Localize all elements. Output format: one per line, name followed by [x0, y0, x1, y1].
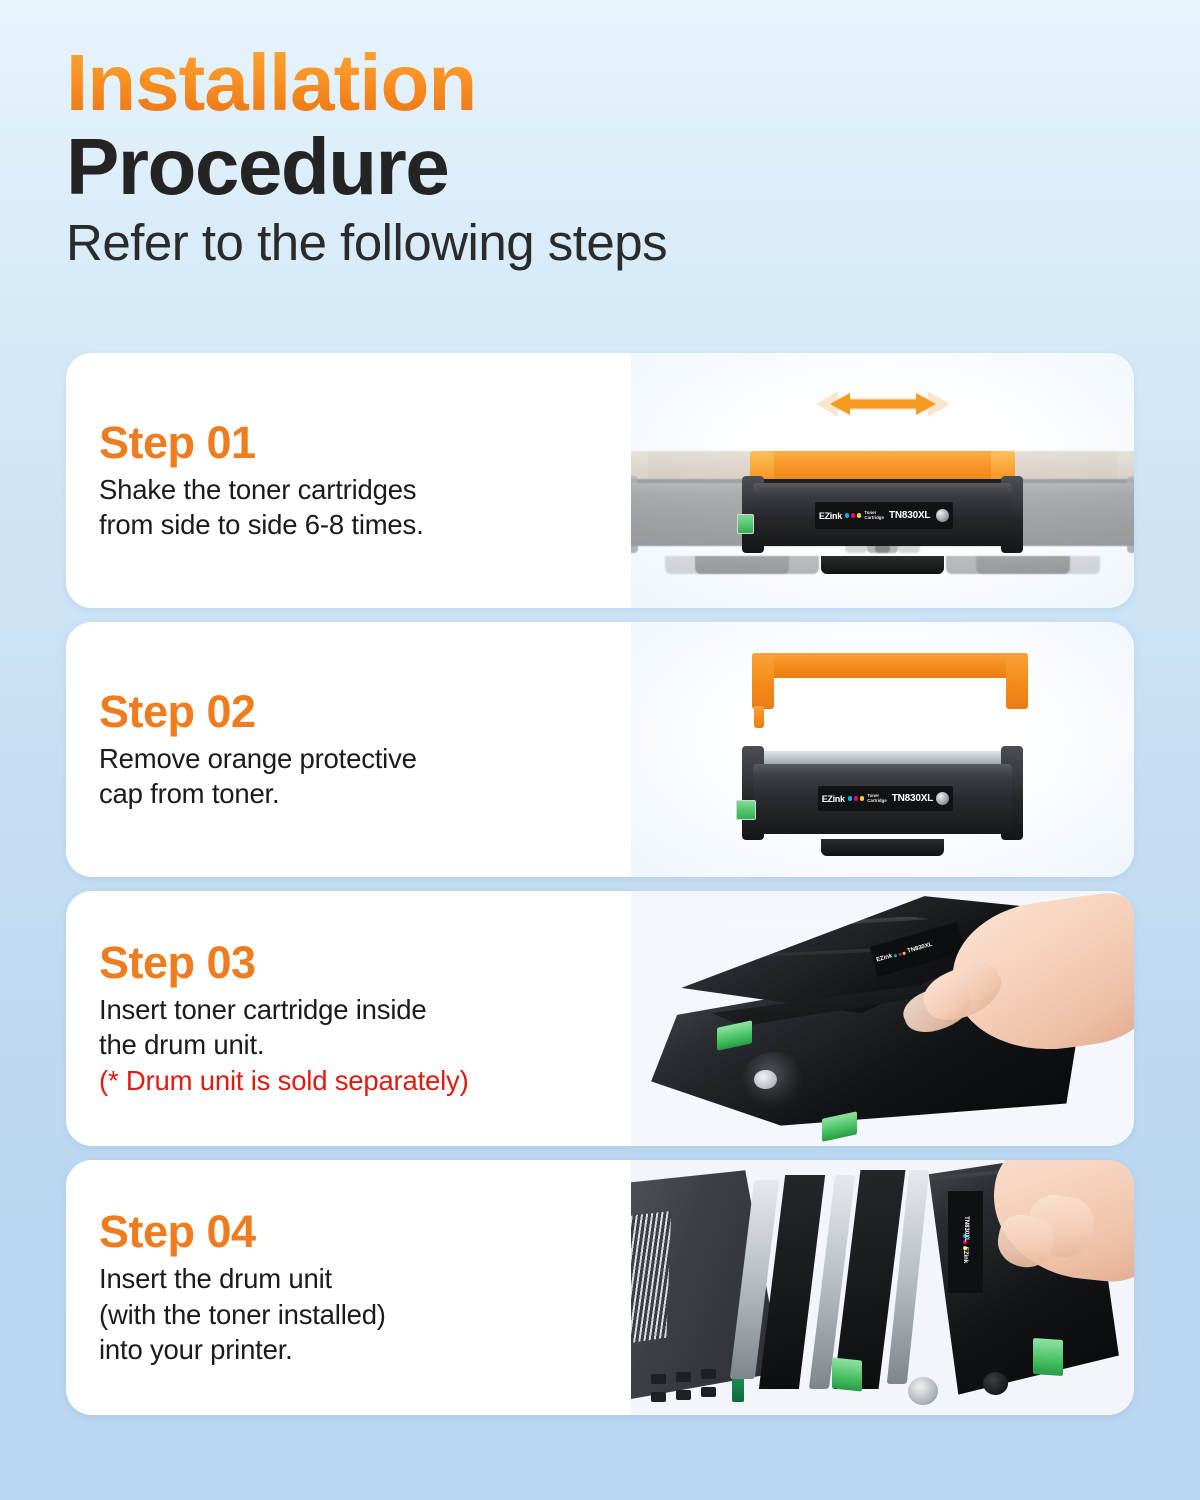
page-title-secondary: Procedure — [66, 126, 1200, 208]
step-card-01: Step 01 Shake the toner cartridges from … — [66, 353, 1134, 608]
brand-text: EZink — [962, 1246, 968, 1262]
cmy-dots-icon — [894, 951, 906, 957]
green-release-tab — [736, 800, 756, 820]
cartridge-label: EZink Toner Cartridge TN830XL — [815, 502, 953, 528]
detached-orange-cap-group — [752, 653, 1029, 709]
registered-seal-icon — [936, 509, 949, 522]
step-card-03: Step 03 Insert toner cartridge inside th… — [66, 891, 1134, 1146]
cartridge-model-text: TN830XL — [892, 793, 933, 804]
toner-cartridge-main: EZink Toner Cartridge TN830XL — [742, 447, 1024, 567]
step-04-description: Insert the drum unit (with the toner ins… — [99, 1261, 631, 1367]
steps-list: Step 01 Shake the toner cartridges from … — [66, 353, 1134, 1429]
cartridge-label: EZink Toner Cartridge TN830XL — [818, 786, 953, 811]
inserted-toner-label: TN830XL EZink — [948, 1191, 983, 1293]
cmy-dots-icon — [848, 796, 865, 801]
step-02-text-block: Step 02 Remove orange protective cap fro… — [66, 622, 631, 877]
step-03-note: (* Drum unit is sold separately) — [99, 1063, 631, 1098]
step-03-text-block: Step 03 Insert toner cartridge inside th… — [66, 891, 631, 1146]
step-03-description: Insert toner cartridge inside the drum u… — [99, 992, 631, 1062]
step-04-illustration: TN830XL EZink — [631, 1160, 1134, 1415]
brand-text: EZink — [822, 794, 845, 804]
cartridge-sub-text: Toner Cartridge — [867, 794, 887, 804]
step-03-label: Step 03 — [99, 939, 631, 986]
cartridge-sub-text: Toner Cartridge — [864, 511, 884, 521]
step-03-illustration: EZink TN830XL — [631, 891, 1134, 1146]
toner-cartridge-uncapped: EZink Toner Cartridge TN830XL — [742, 739, 1024, 851]
step-02-label: Step 02 — [99, 688, 631, 735]
cmy-dots-icon — [845, 513, 862, 518]
cartridge-model-text: TN830XL — [962, 1216, 968, 1242]
page-title-primary: Installation — [66, 44, 476, 122]
step-01-description: Shake the toner cartridges from side to … — [99, 472, 631, 542]
step-04-text-block: Step 04 Insert the drum unit (with the t… — [66, 1160, 631, 1415]
step-01-illustration: EZink Toner Cartridge TN830XL — [631, 353, 1134, 608]
cartridge-model-text: TN830XL — [889, 510, 930, 521]
green-release-tab — [737, 514, 754, 533]
green-clip-right — [1033, 1337, 1063, 1375]
step-01-label: Step 01 — [99, 419, 631, 466]
shake-direction-arrow-group — [808, 387, 958, 421]
step-01-text-block: Step 01 Shake the toner cartridges from … — [66, 353, 631, 608]
step-card-02: Step 02 Remove orange protective cap fro… — [66, 622, 1134, 877]
brand-text: EZink — [876, 954, 893, 964]
step-02-illustration: EZink Toner Cartridge TN830XL — [631, 622, 1134, 877]
double-arrow-icon — [808, 387, 958, 421]
page-tagline: Refer to the following steps — [66, 214, 1200, 273]
printer-vent — [631, 1211, 671, 1349]
step-04-label: Step 04 — [99, 1208, 631, 1255]
step-card-04: Step 04 Insert the drum unit (with the t… — [66, 1160, 1134, 1415]
orange-protective-cap — [750, 451, 1015, 482]
green-clip-center — [832, 1357, 862, 1391]
step-02-description: Remove orange protective cap from toner. — [99, 741, 631, 811]
drum-unit-photo: EZink TN830XL — [631, 891, 1134, 1146]
printer-photo: TN830XL EZink — [631, 1160, 1134, 1415]
brand-text: EZink — [819, 511, 842, 521]
page-header: Installation Procedure Refer to the foll… — [0, 0, 1200, 273]
cartridge-model-text: TN830XL — [907, 942, 933, 955]
registered-seal-icon — [936, 792, 949, 805]
